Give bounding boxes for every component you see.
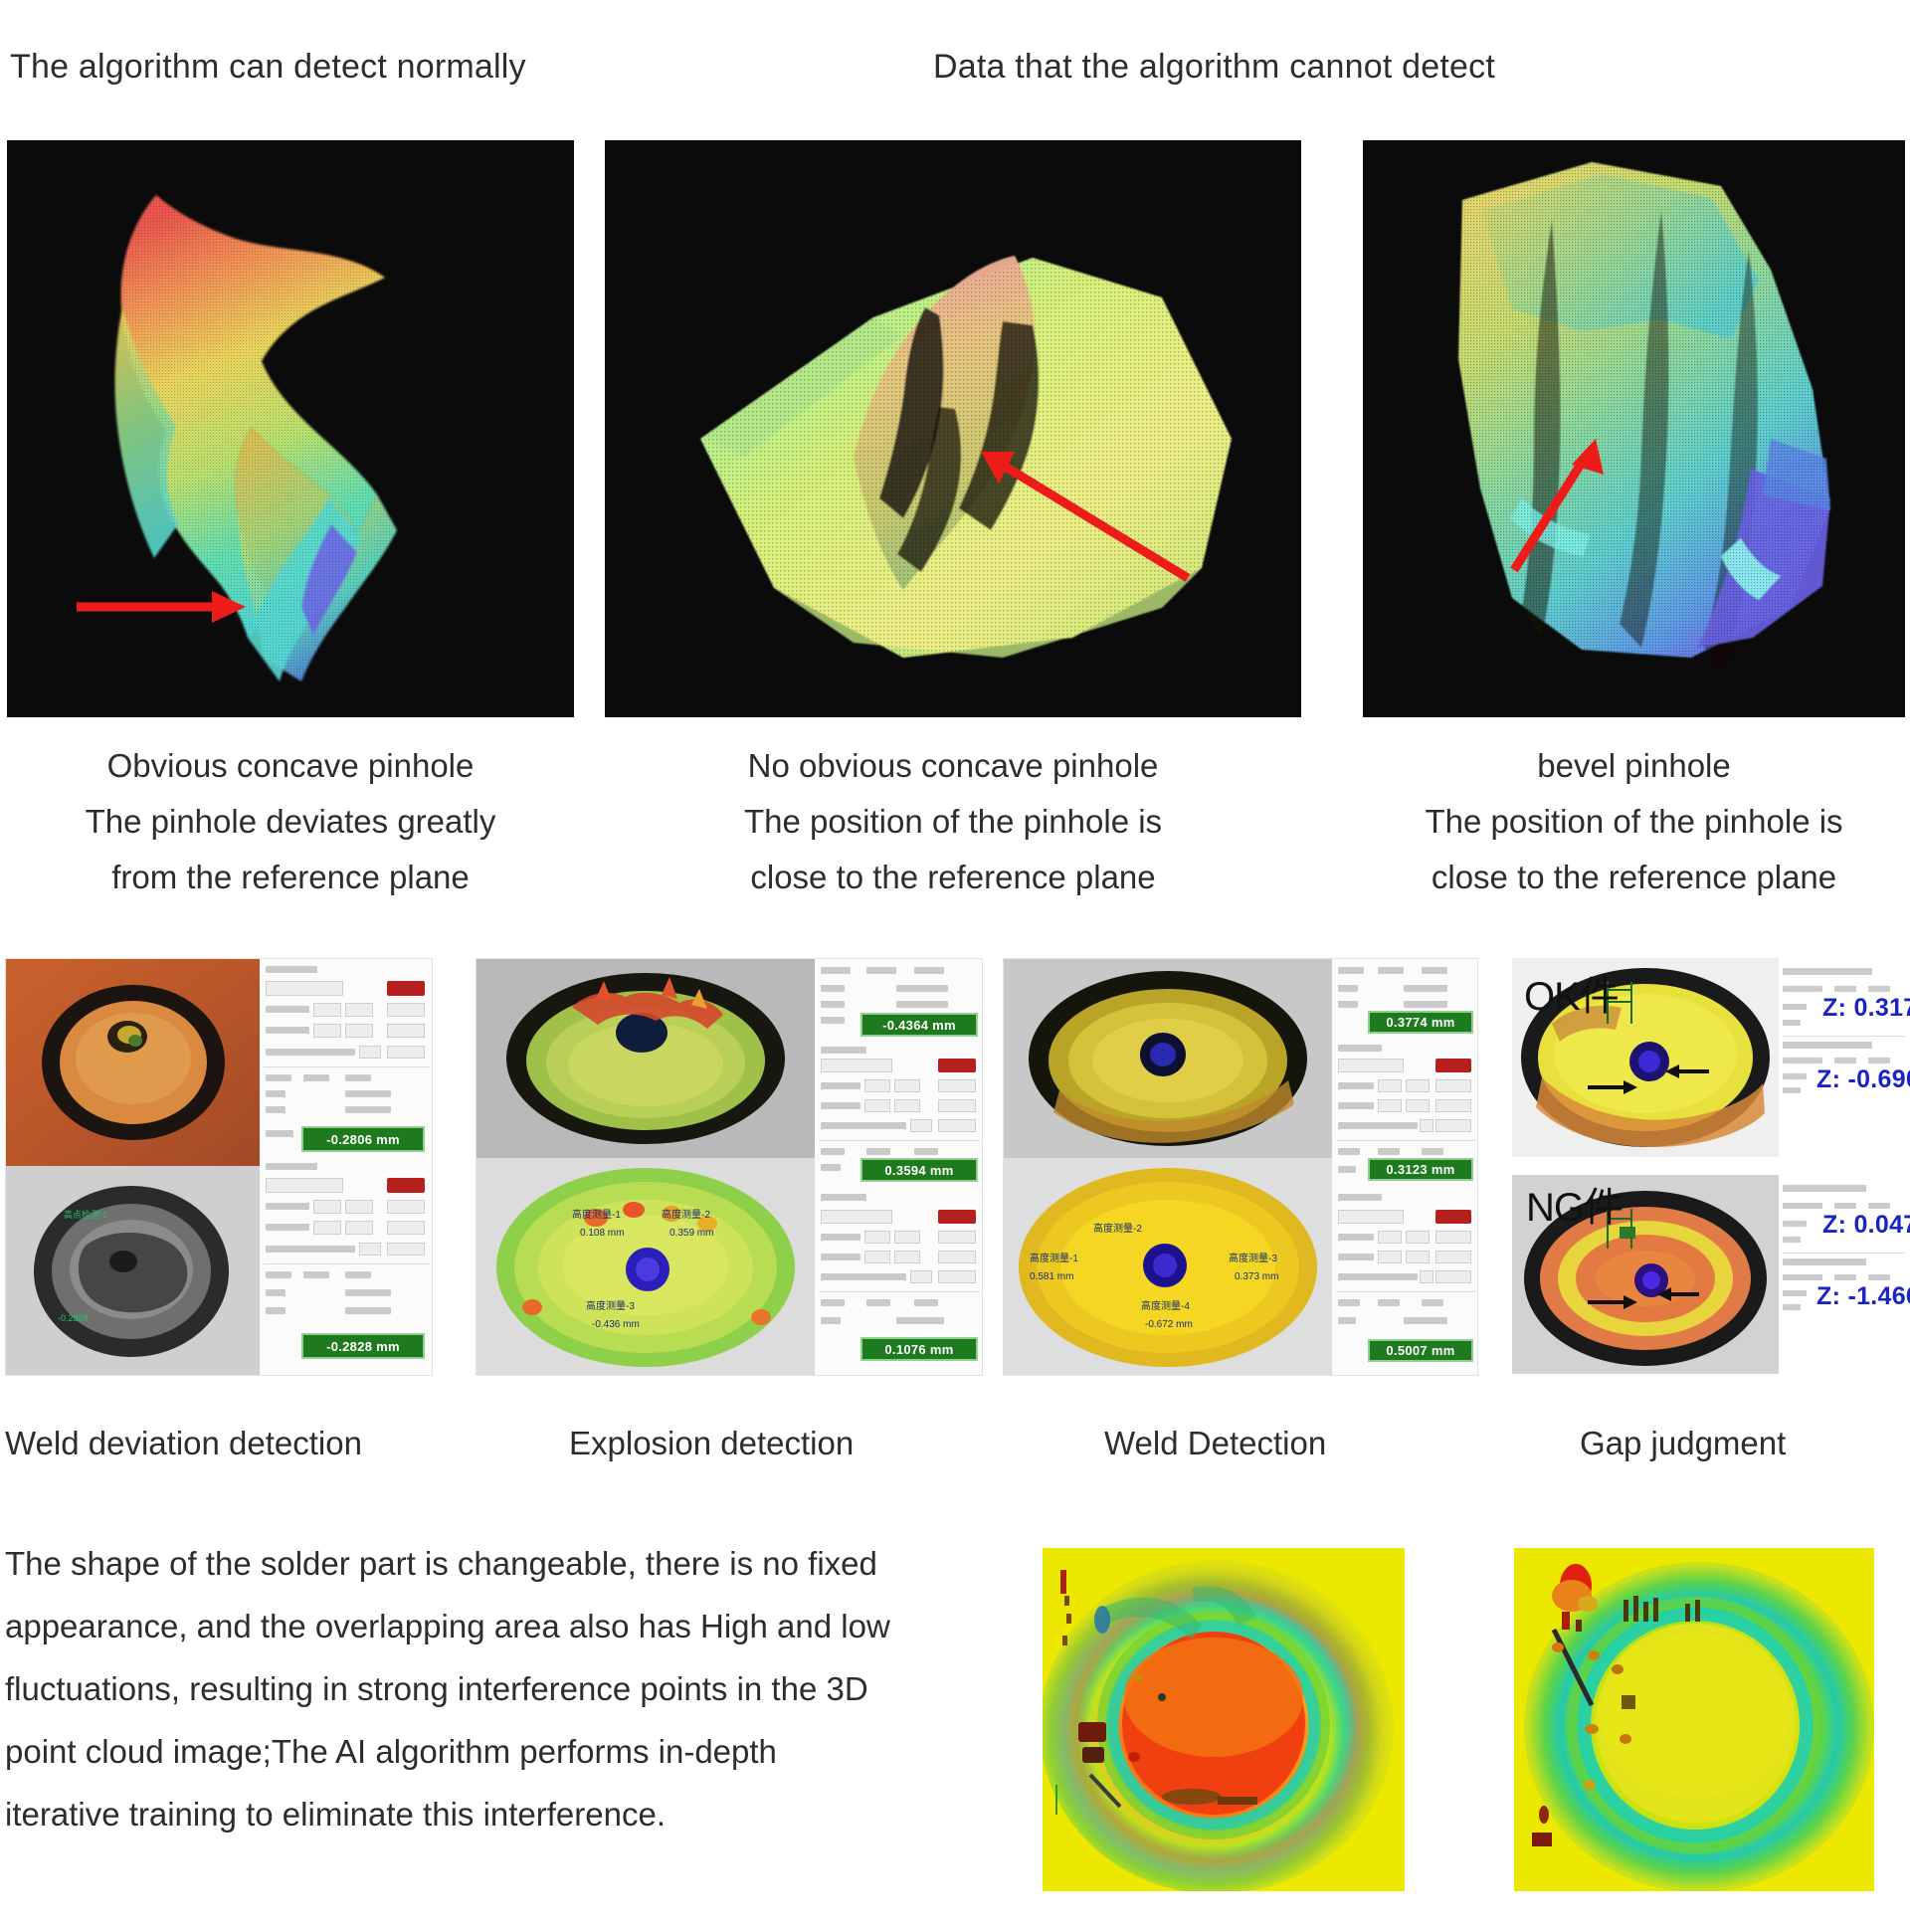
- param-label: [1783, 1258, 1866, 1265]
- param-label: [1338, 1166, 1356, 1173]
- param-label: [266, 966, 317, 973]
- param-field[interactable]: [1378, 1099, 1402, 1112]
- param-label: [1338, 967, 1364, 974]
- svg-text:高度测量-4: 高度测量-4: [1141, 1299, 1190, 1312]
- param-field[interactable]: [345, 1221, 373, 1235]
- param-label: [345, 1271, 371, 1278]
- point-cloud-panel-no-obvious-concave-pinhole: [605, 140, 1301, 717]
- param-field[interactable]: [910, 1270, 932, 1283]
- svg-text:-0.436 mm: -0.436 mm: [592, 1319, 640, 1330]
- param-label: [1834, 1274, 1856, 1280]
- param-field[interactable]: [1338, 1059, 1404, 1072]
- param-label: [1338, 1273, 1418, 1280]
- svg-text:高度测量-2: 高度测量-2: [1093, 1222, 1142, 1235]
- z-value-ng-2: Z: -1.466: [1816, 1282, 1910, 1311]
- param-label: [1834, 1058, 1856, 1063]
- weld-deviation-image-bottom: 高点检测-1 -0.2828: [6, 1166, 260, 1376]
- param-field[interactable]: [387, 1200, 425, 1214]
- heatmap-svg-1: [1043, 1548, 1405, 1891]
- caption-line: close to the reference plane: [1363, 850, 1905, 905]
- explosion-image-bottom: 高度测量-1 高度测量-2 0.108 mm 0.359 mm 高度测量-3 -…: [477, 1158, 815, 1376]
- param-label: [266, 1006, 309, 1013]
- param-label: [266, 1224, 309, 1231]
- param-field[interactable]: [1378, 1251, 1402, 1263]
- explosion-parameter-pane[interactable]: -0.4364 mm 0.3594 mm: [815, 959, 983, 1376]
- action-button-red[interactable]: [387, 981, 425, 996]
- param-label: [896, 1001, 948, 1008]
- measurement-value-2: 0.3594 mm: [860, 1158, 978, 1182]
- inspection-screenshot-gap-judgment[interactable]: OK件 Z: 0.317 Z: -0.690: [1512, 958, 1910, 1376]
- param-label: [1378, 1299, 1400, 1306]
- param-label: [1338, 1254, 1374, 1260]
- param-label: [266, 1130, 293, 1137]
- param-field[interactable]: [1435, 1270, 1471, 1283]
- param-label: [821, 1001, 845, 1008]
- caption-line: Obvious concave pinhole: [7, 738, 574, 794]
- param-label: [345, 1307, 391, 1314]
- caption-line: No obvious concave pinhole: [605, 738, 1301, 794]
- param-label: [821, 1122, 906, 1129]
- svg-text:高度测量-3: 高度测量-3: [586, 1299, 635, 1312]
- param-field[interactable]: [910, 1119, 932, 1132]
- param-label: [266, 1074, 291, 1081]
- param-label: [821, 1082, 860, 1089]
- verdict-label-ng: NG件: [1526, 1175, 1623, 1233]
- param-label: [1783, 1087, 1801, 1093]
- param-label: [914, 967, 944, 974]
- param-field[interactable]: [266, 981, 343, 996]
- param-field[interactable]: [894, 1231, 920, 1244]
- param-label: [345, 1106, 391, 1113]
- param-label: [821, 985, 845, 992]
- param-field[interactable]: [1435, 1099, 1471, 1112]
- param-label: [1783, 1073, 1807, 1079]
- caption-explosion-detection: Explosion detection: [569, 1425, 854, 1462]
- param-field[interactable]: [894, 1251, 920, 1263]
- point-cloud-render-3: [1363, 140, 1905, 717]
- divider: [819, 1291, 980, 1292]
- weld-deviation-image-top: [6, 959, 260, 1166]
- inspection-screenshot-weld-deviation-detection[interactable]: 高点检测-1 -0.2828 -0.2806 mm: [5, 958, 433, 1376]
- param-label: [345, 1289, 391, 1296]
- param-field[interactable]: [387, 1046, 425, 1059]
- point-cloud-panel-bevel-pinhole: [1363, 140, 1905, 717]
- divider: [264, 1263, 430, 1264]
- param-label: [1783, 1042, 1872, 1049]
- param-label: [1783, 968, 1872, 975]
- bottom-description-paragraph: The shape of the solder part is changeab…: [5, 1532, 900, 1845]
- param-label: [821, 1164, 841, 1171]
- param-label: [866, 1148, 890, 1155]
- param-field[interactable]: [345, 1024, 373, 1038]
- divider: [264, 1066, 430, 1067]
- weld-bottom-render: 高点检测-1 -0.2828: [6, 1166, 260, 1376]
- divider: [1336, 1140, 1475, 1141]
- param-label: [821, 1102, 860, 1109]
- caption-gap-judgment: Gap judgment: [1580, 1425, 1786, 1462]
- inspection-screenshot-explosion-detection[interactable]: 高度测量-1 高度测量-2 0.108 mm 0.359 mm 高度测量-3 -…: [476, 958, 983, 1376]
- param-label: [1404, 985, 1447, 992]
- caption-line: The pinhole deviates greatly: [7, 794, 574, 850]
- param-field[interactable]: [1406, 1251, 1430, 1263]
- param-label: [266, 1203, 309, 1210]
- divider: [1336, 1291, 1475, 1292]
- param-label: [1338, 985, 1358, 992]
- param-field[interactable]: [387, 1243, 425, 1256]
- param-label: [821, 1317, 841, 1324]
- param-label: [821, 1273, 906, 1280]
- measurement-value-2: 0.3123 mm: [1368, 1158, 1473, 1181]
- svg-text:高度测量-2: 高度测量-2: [662, 1208, 710, 1221]
- param-field[interactable]: [1406, 1079, 1430, 1092]
- weld-detection-image-top: [1004, 959, 1332, 1158]
- param-label: [896, 985, 948, 992]
- param-label: [821, 1047, 866, 1054]
- svg-text:-0.2828: -0.2828: [58, 1313, 89, 1323]
- measurement-value-1: -0.2806 mm: [301, 1126, 425, 1152]
- param-label: [266, 1049, 355, 1056]
- param-label: [821, 1017, 845, 1024]
- action-button-red[interactable]: [1435, 1059, 1471, 1072]
- param-label: [1783, 1274, 1822, 1280]
- param-label: [266, 1163, 317, 1170]
- param-label: [1783, 1185, 1866, 1192]
- param-label: [821, 1148, 845, 1155]
- heatmap-svg-2: [1514, 1548, 1874, 1891]
- param-field[interactable]: [1435, 1231, 1471, 1244]
- param-field[interactable]: [313, 1200, 341, 1214]
- param-label: [821, 967, 851, 974]
- param-label: [1783, 986, 1822, 992]
- param-field[interactable]: [387, 1003, 425, 1017]
- param-label: [266, 1090, 286, 1097]
- param-field[interactable]: [1420, 1270, 1433, 1283]
- param-label: [1338, 1122, 1418, 1129]
- param-field[interactable]: [387, 1221, 425, 1235]
- gap-judgment-ng-readout: Z: 0.047 Z: -1.466: [1779, 1175, 1910, 1316]
- param-label: [1338, 1299, 1360, 1306]
- param-label: [1868, 1203, 1890, 1209]
- param-label: [1378, 967, 1404, 974]
- gap-judgment-ok-readout: Z: 0.317 Z: -0.690: [1779, 958, 1910, 1099]
- param-label: [1783, 1004, 1807, 1010]
- param-label: [1338, 1234, 1374, 1241]
- explosion-image-top: [477, 959, 815, 1158]
- param-label: [1868, 986, 1890, 992]
- divider: [1783, 1036, 1906, 1037]
- param-field[interactable]: [313, 1024, 341, 1038]
- param-label: [345, 1090, 391, 1097]
- caption-weld-deviation-detection: Weld deviation detection: [5, 1425, 362, 1462]
- point-cloud-render-1: [7, 140, 574, 717]
- param-field[interactable]: [1378, 1079, 1402, 1092]
- svg-text:0.373 mm: 0.373 mm: [1235, 1271, 1278, 1282]
- measurement-value-1: -0.4364 mm: [860, 1013, 978, 1037]
- param-label: [1338, 1045, 1382, 1052]
- point-cloud-panel-obvious-concave-pinhole: [7, 140, 574, 717]
- param-field[interactable]: [938, 1251, 976, 1263]
- param-field[interactable]: [864, 1251, 890, 1263]
- weld-detection-top-render: [1004, 959, 1332, 1158]
- z-value-ng-1: Z: 0.047: [1822, 1211, 1910, 1240]
- caption-obvious-concave-pinhole: Obvious concave pinhole The pinhole devi…: [7, 738, 574, 905]
- measurement-value-1: 0.3774 mm: [1368, 1011, 1473, 1034]
- param-label: [896, 1317, 944, 1324]
- param-label: [1783, 1221, 1807, 1227]
- weld-deviation-parameter-pane[interactable]: -0.2806 mm -0.2828 mm: [260, 959, 433, 1376]
- heatmap-render-yellow-center: [1514, 1548, 1874, 1891]
- param-field[interactable]: [313, 1003, 341, 1017]
- caption-bevel-pinhole: bevel pinhole The position of the pinhol…: [1363, 738, 1905, 905]
- svg-text:0.108 mm: 0.108 mm: [580, 1228, 624, 1239]
- svg-text:0.359 mm: 0.359 mm: [669, 1228, 713, 1239]
- param-label: [1783, 1020, 1801, 1026]
- param-field[interactable]: [313, 1221, 341, 1235]
- param-field[interactable]: [359, 1046, 381, 1059]
- param-field[interactable]: [1378, 1231, 1402, 1244]
- action-button-red[interactable]: [1435, 1210, 1471, 1224]
- param-field[interactable]: [1420, 1119, 1433, 1132]
- divider: [819, 1140, 980, 1141]
- heatmap-render-red-center: [1043, 1548, 1405, 1891]
- param-label: [1338, 1148, 1360, 1155]
- param-label: [1404, 1001, 1447, 1008]
- param-field[interactable]: [1435, 1079, 1471, 1092]
- caption-line: from the reference plane: [7, 850, 574, 905]
- param-field[interactable]: [864, 1079, 890, 1092]
- caption-line: close to the reference plane: [605, 850, 1301, 905]
- param-label: [914, 1299, 938, 1306]
- param-field[interactable]: [1435, 1119, 1471, 1132]
- param-label: [821, 1194, 866, 1201]
- param-label: [1834, 986, 1856, 992]
- param-label: [914, 1148, 938, 1155]
- caption-line: The position of the pinhole is: [605, 794, 1301, 850]
- param-field[interactable]: [345, 1200, 373, 1214]
- param-label: [1783, 1290, 1807, 1296]
- verdict-label-ok: OK件: [1524, 964, 1619, 1022]
- param-label: [303, 1074, 329, 1081]
- overlay-label-text: 高点检测-1: [64, 1209, 107, 1220]
- param-field[interactable]: [938, 1119, 976, 1132]
- caption-weld-detection: Weld Detection: [1104, 1425, 1326, 1462]
- param-field[interactable]: [1406, 1099, 1430, 1112]
- param-field[interactable]: [938, 1079, 976, 1092]
- measurement-value-2: -0.2828 mm: [301, 1333, 425, 1359]
- param-field[interactable]: [359, 1243, 381, 1256]
- explosion-bottom-render: 高度测量-1 高度测量-2 0.108 mm 0.359 mm 高度测量-3 -…: [477, 1158, 815, 1376]
- param-field[interactable]: [387, 1024, 425, 1038]
- caption-no-obvious-concave-pinhole: No obvious concave pinhole The position …: [605, 738, 1301, 905]
- param-label: [1338, 1317, 1356, 1324]
- caption-line: bevel pinhole: [1363, 738, 1905, 794]
- param-label: [1378, 1148, 1400, 1155]
- param-label: [1422, 1299, 1443, 1306]
- param-label: [821, 1254, 860, 1260]
- param-label: [266, 1246, 355, 1253]
- param-label: [866, 967, 896, 974]
- weld-detection-parameter-pane[interactable]: 0.3774 mm 0.3123 mm: [1332, 959, 1478, 1376]
- param-label: [266, 1027, 309, 1034]
- measurement-value-3: 0.1076 mm: [860, 1337, 978, 1361]
- param-label: [266, 1307, 286, 1314]
- svg-text:0.581 mm: 0.581 mm: [1030, 1271, 1073, 1282]
- param-label: [266, 1289, 286, 1296]
- param-field[interactable]: [864, 1099, 890, 1112]
- param-field[interactable]: [821, 1059, 892, 1072]
- param-label: [1868, 1274, 1890, 1280]
- param-label: [1783, 1058, 1822, 1063]
- param-label: [266, 1106, 286, 1113]
- param-label: [821, 1234, 860, 1241]
- param-label: [303, 1271, 329, 1278]
- param-field[interactable]: [266, 1178, 343, 1193]
- param-field[interactable]: [864, 1231, 890, 1244]
- param-label: [821, 1299, 845, 1306]
- param-label: [866, 1299, 890, 1306]
- svg-text:-0.672 mm: -0.672 mm: [1145, 1319, 1193, 1330]
- weld-top-render: [6, 959, 260, 1166]
- param-field[interactable]: [1435, 1251, 1471, 1263]
- param-field[interactable]: [894, 1099, 920, 1112]
- param-label: [1338, 1001, 1358, 1008]
- svg-text:高度测量-1: 高度测量-1: [1030, 1252, 1078, 1264]
- param-label: [1834, 1203, 1856, 1209]
- action-button-red[interactable]: [938, 1059, 976, 1072]
- param-label: [1338, 1102, 1374, 1109]
- header-left-algorithm-normal: The algorithm can detect normally: [10, 48, 526, 87]
- param-label: [1868, 1058, 1890, 1063]
- z-value-ok-2: Z: -0.690: [1816, 1065, 1910, 1094]
- header-right-algorithm-cannot-detect: Data that the algorithm cannot detect: [933, 48, 1495, 87]
- param-label: [1783, 1203, 1822, 1209]
- divider: [1783, 1253, 1906, 1254]
- svg-text:高度测量-1: 高度测量-1: [572, 1208, 621, 1221]
- action-button-red[interactable]: [387, 1178, 425, 1193]
- param-label: [1338, 1194, 1382, 1201]
- svg-text:高度测量-3: 高度测量-3: [1229, 1252, 1277, 1264]
- z-value-ok-1: Z: 0.317: [1822, 994, 1910, 1023]
- param-field[interactable]: [1406, 1231, 1430, 1244]
- param-field[interactable]: [938, 1231, 976, 1244]
- param-field[interactable]: [345, 1003, 373, 1017]
- param-field[interactable]: [1338, 1210, 1404, 1224]
- param-field[interactable]: [938, 1099, 976, 1112]
- weld-detection-bottom-render: 高度测量-2 高度测量-1 0.581 mm 高度测量-3 0.373 mm 高…: [1004, 1158, 1332, 1376]
- param-label: [1338, 1082, 1374, 1089]
- param-label: [1422, 967, 1447, 974]
- caption-line: The position of the pinhole is: [1363, 794, 1905, 850]
- param-field[interactable]: [938, 1270, 976, 1283]
- param-label: [1404, 1317, 1447, 1324]
- param-label: [345, 1074, 371, 1081]
- param-field[interactable]: [821, 1210, 892, 1224]
- param-label: [1783, 1237, 1801, 1243]
- param-label: [266, 1271, 291, 1278]
- action-button-red[interactable]: [938, 1210, 976, 1224]
- param-field[interactable]: [894, 1079, 920, 1092]
- point-cloud-render-2: [605, 140, 1301, 717]
- explosion-top-render: [477, 959, 815, 1158]
- param-label: [1783, 1304, 1801, 1310]
- param-label: [1422, 1148, 1443, 1155]
- weld-detection-image-bottom: 高度测量-2 高度测量-1 0.581 mm 高度测量-3 0.373 mm 高…: [1004, 1158, 1332, 1376]
- inspection-screenshot-weld-detection[interactable]: 高度测量-2 高度测量-1 0.581 mm 高度测量-3 0.373 mm 高…: [1003, 958, 1478, 1376]
- measurement-value-3: 0.5007 mm: [1368, 1339, 1473, 1362]
